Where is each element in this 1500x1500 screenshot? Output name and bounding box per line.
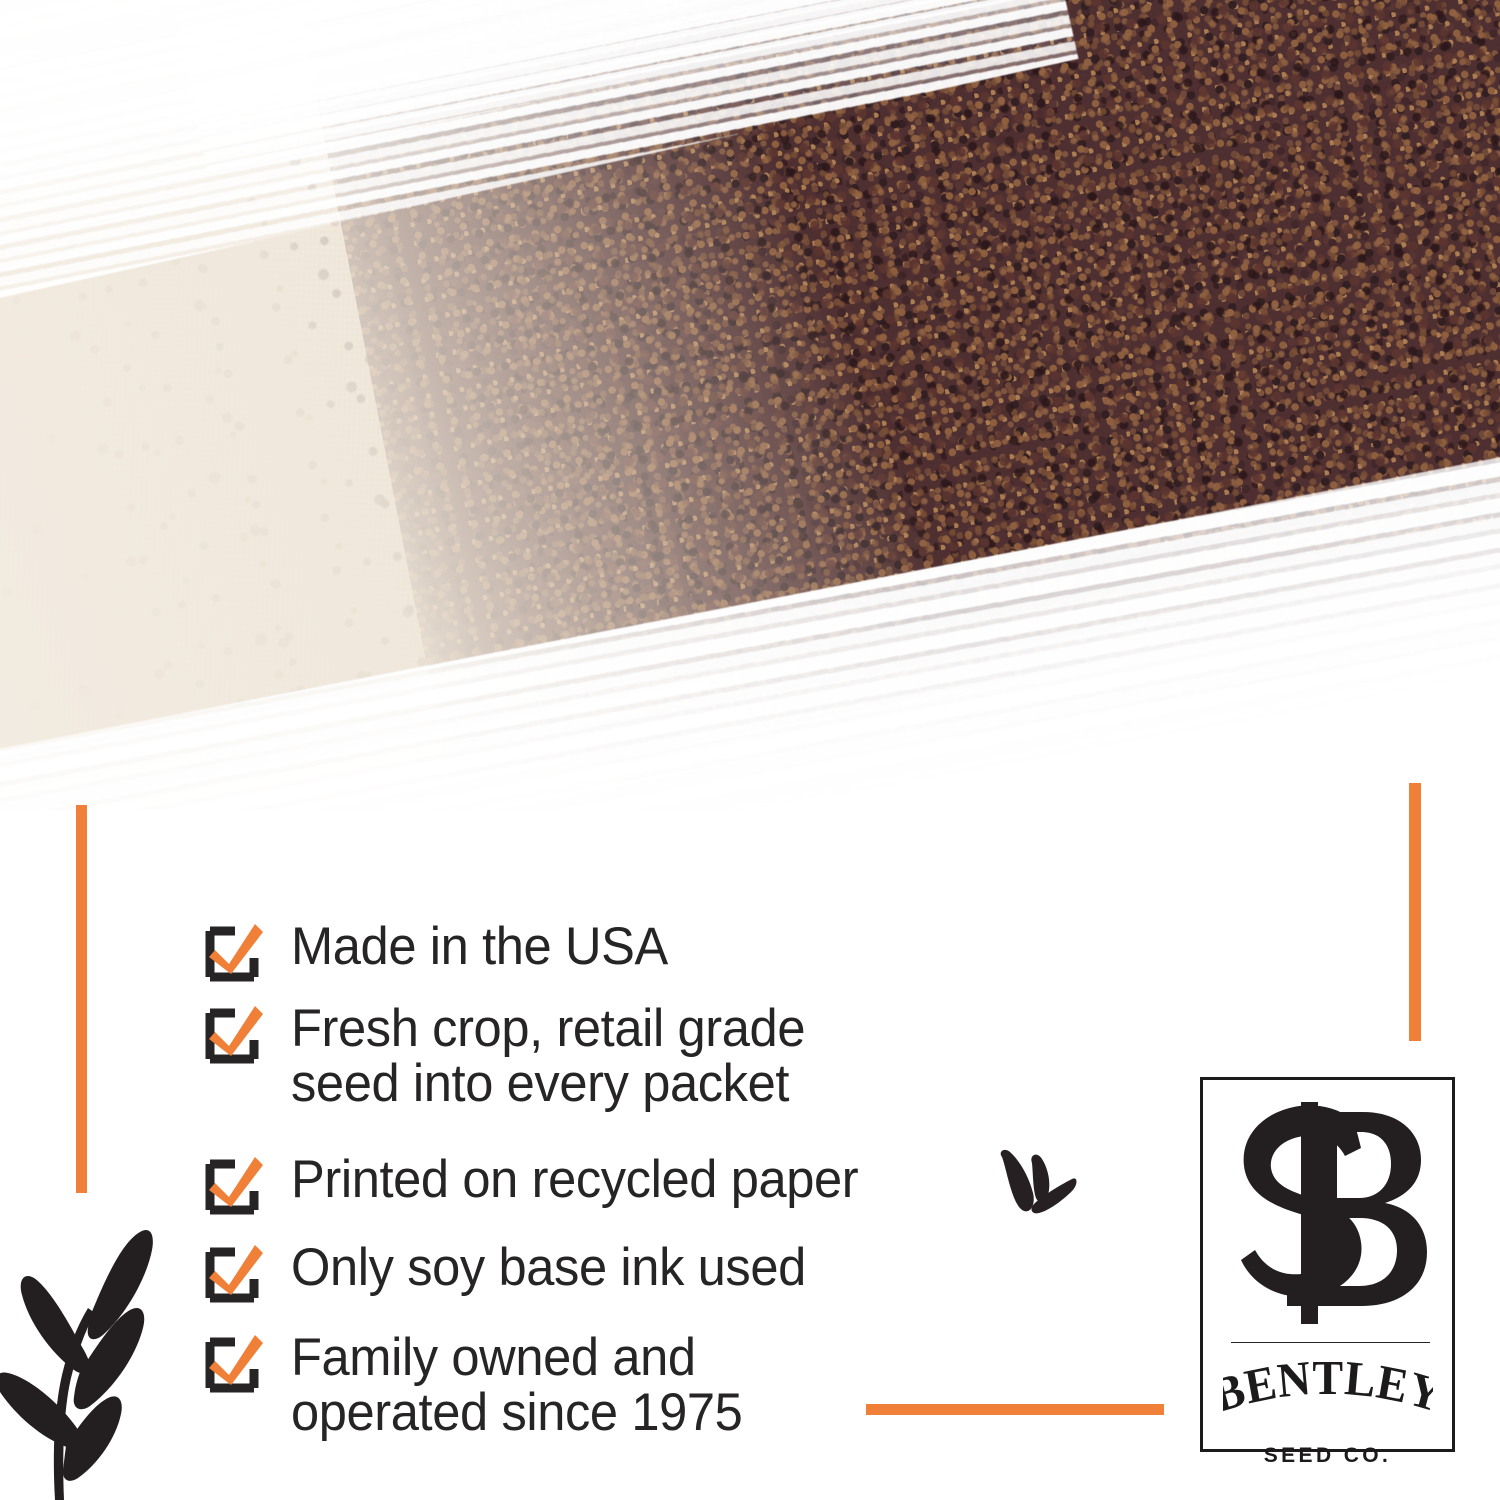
logo-wordmark: BENTLEY [1203,1362,1452,1414]
list-item-label: Made in the USA [291,920,668,975]
logo-brand-name: BENTLEY [1223,1362,1433,1414]
checkbox-checked-icon [205,1339,257,1391]
checkbox-checked-icon [205,1010,257,1062]
list-item: Family owned and operated since 1975 [205,1331,1025,1440]
photo-white-floor [0,810,1500,930]
leaf-sprig-icon [0,1200,200,1500]
checkbox-checked-icon [205,1161,257,1213]
list-item: Fresh crop, retail grade seed into every… [205,1002,1025,1111]
seed-macro-photo [0,0,1500,930]
vertical-orange-rule-left [76,805,87,1193]
list-item-label: Printed on recycled paper [291,1153,858,1208]
list-item-label: Only soy base ink used [291,1241,806,1296]
list-item: Made in the USA [205,920,1025,980]
list-item: Printed on recycled paper [205,1153,1025,1213]
brand-logo: BENTLEY SEED CO. [1200,1077,1455,1452]
list-item: Only soy base ink used [205,1241,1025,1301]
feature-checklist: Made in the USA Fresh crop, retail grade… [205,920,1025,1462]
vertical-orange-rule-right [1409,783,1421,1041]
product-infographic: Made in the USA Fresh crop, retail grade… [0,0,1500,1500]
svg-text:BENTLEY: BENTLEY [1223,1362,1433,1414]
list-item-label: Family owned and operated since 1975 [291,1331,742,1440]
logo-divider [1231,1342,1430,1343]
checkbox-checked-icon [205,1249,257,1301]
logo-subtitle: SEED CO. [1203,1444,1452,1468]
checkbox-checked-icon [205,928,257,980]
sb-monogram-icon [1221,1096,1435,1328]
list-item-label: Fresh crop, retail grade seed into every… [291,1002,805,1111]
